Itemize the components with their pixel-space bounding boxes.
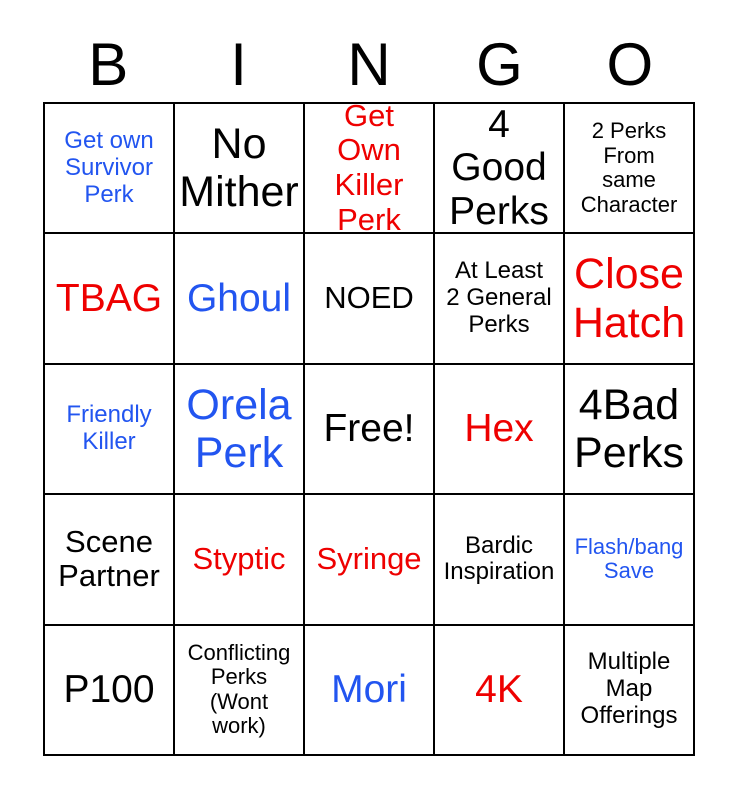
bingo-cell-label: 4 Good Perks: [439, 104, 559, 234]
bingo-cell-label: Conflicting Perks (Wont work): [179, 641, 299, 740]
bingo-cell-label: Multiple Map Offerings: [569, 649, 689, 730]
bingo-cell-label: 2 Perks From same Character: [569, 119, 689, 218]
bingo-cell-label: No Mither: [179, 120, 299, 216]
bingo-cell-label: NOED: [309, 281, 429, 316]
bingo-cell[interactable]: NOED: [305, 234, 435, 364]
bingo-header-letter-n: N: [304, 30, 434, 100]
bingo-header-letter-g: G: [434, 30, 564, 100]
bingo-cell-label: At Least 2 General Perks: [439, 258, 559, 339]
bingo-cell-label: Get own Survivor Perk: [49, 128, 169, 209]
bingo-cell[interactable]: 4K: [435, 626, 565, 756]
bingo-cell-label: Hex: [439, 407, 559, 451]
bingo-cell[interactable]: Scene Partner: [45, 495, 175, 625]
bingo-cell[interactable]: Orela Perk: [175, 365, 305, 495]
bingo-cell[interactable]: Mori: [305, 626, 435, 756]
bingo-header-letter-o: O: [565, 30, 695, 100]
bingo-cell-label: 4K: [439, 668, 559, 712]
bingo-cell[interactable]: TBAG: [45, 234, 175, 364]
bingo-cell[interactable]: Hex: [435, 365, 565, 495]
bingo-cell-label: Flash/bang Save: [569, 535, 689, 584]
bingo-grid: Get own Survivor Perk No Mither Get Own …: [43, 102, 695, 756]
bingo-cell-label: Close Hatch: [569, 250, 689, 346]
bingo-cell[interactable]: Ghoul: [175, 234, 305, 364]
bingo-cell[interactable]: P100: [45, 626, 175, 756]
bingo-cell[interactable]: Flash/bang Save: [565, 495, 695, 625]
bingo-cell[interactable]: 2 Perks From same Character: [565, 104, 695, 234]
bingo-cell-label: Scene Partner: [49, 525, 169, 594]
bingo-cell-label: Free!: [309, 407, 429, 451]
bingo-cell-label: P100: [49, 668, 169, 712]
bingo-cell-label: Friendly Killer: [49, 402, 169, 456]
bingo-cell[interactable]: Bardic Inspiration: [435, 495, 565, 625]
bingo-header-row: B I N G O: [43, 30, 695, 100]
bingo-cell[interactable]: Multiple Map Offerings: [565, 626, 695, 756]
bingo-cell[interactable]: Friendly Killer: [45, 365, 175, 495]
bingo-cell[interactable]: 4Bad Perks: [565, 365, 695, 495]
bingo-cell[interactable]: At Least 2 General Perks: [435, 234, 565, 364]
bingo-cell-label: TBAG: [49, 277, 169, 321]
bingo-cell[interactable]: Get Own Killer Perk: [305, 104, 435, 234]
bingo-cell[interactable]: Close Hatch: [565, 234, 695, 364]
bingo-cell-label: Syringe: [309, 542, 429, 577]
bingo-header-letter-b: B: [43, 30, 173, 100]
bingo-cell-label: Ghoul: [179, 277, 299, 321]
bingo-cell-label: 4Bad Perks: [569, 381, 689, 477]
bingo-cell[interactable]: Conflicting Perks (Wont work): [175, 626, 305, 756]
bingo-header-letter-i: I: [173, 30, 303, 100]
bingo-cell-label: Orela Perk: [179, 381, 299, 477]
bingo-cell-label: Bardic Inspiration: [439, 533, 559, 587]
bingo-cell[interactable]: Get own Survivor Perk: [45, 104, 175, 234]
bingo-cell[interactable]: Syringe: [305, 495, 435, 625]
bingo-cell-label: Get Own Killer Perk: [309, 104, 429, 234]
bingo-cell-free[interactable]: Free!: [305, 365, 435, 495]
bingo-card: B I N G O Get own Survivor Perk No Mithe…: [0, 0, 736, 800]
bingo-cell[interactable]: No Mither: [175, 104, 305, 234]
bingo-cell[interactable]: 4 Good Perks: [435, 104, 565, 234]
bingo-cell-label: Mori: [309, 668, 429, 712]
bingo-cell-label: Styptic: [179, 542, 299, 577]
bingo-cell[interactable]: Styptic: [175, 495, 305, 625]
